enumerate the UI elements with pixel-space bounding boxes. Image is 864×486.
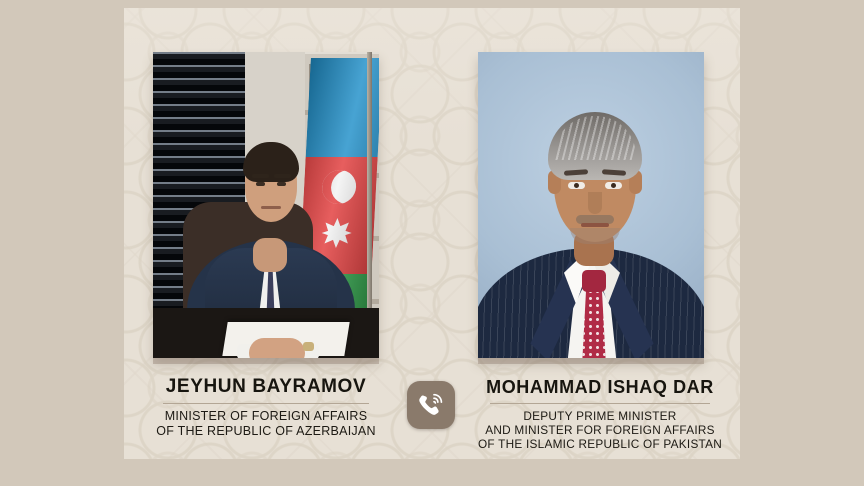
right-person-title-line-3: OF THE ISLAMIC REPUBLIC OF PAKISTAN	[462, 437, 738, 451]
caption-divider-right	[490, 403, 711, 404]
left-eyebrow-2	[274, 174, 291, 178]
right-mouth	[581, 223, 609, 227]
right-person-title-line-2: AND MINISTER FOR FOREIGN AFFAIRS	[462, 423, 738, 437]
right-pupil-2	[611, 183, 616, 188]
right-tie-knot	[582, 270, 606, 292]
caption-divider-left	[163, 403, 370, 404]
left-eye-2	[277, 182, 286, 186]
caption-left: JEYHUN BAYRAMOV MINISTER OF FOREIGN AFFA…	[130, 376, 402, 438]
left-person-title-line-2: OF THE REPUBLIC OF AZERBAIJAN	[130, 424, 402, 439]
left-person-title-line-1: MINISTER OF FOREIGN AFFAIRS	[130, 409, 402, 424]
right-pupil-1	[574, 183, 579, 188]
right-nose	[588, 192, 602, 214]
clasped-hands	[249, 338, 305, 358]
caption-right: MOHAMMAD ISHAQ DAR DEPUTY PRIME MINISTER…	[462, 376, 738, 451]
left-neck	[253, 238, 287, 272]
graphic-canvas: JEYHUN BAYRAMOV MINISTER OF FOREIGN AFFA…	[0, 0, 864, 486]
portrait-photo-right	[478, 52, 704, 358]
left-eyebrow-1	[252, 174, 269, 178]
left-person-name: JEYHUN BAYRAMOV	[130, 376, 402, 398]
wristwatch	[303, 342, 314, 351]
right-person-name: MOHAMMAD ISHAQ DAR	[462, 376, 738, 398]
left-mouth	[261, 206, 281, 209]
right-person-title-line-1: DEPUTY PRIME MINISTER	[462, 409, 738, 423]
left-eye-1	[256, 182, 265, 186]
portrait-photo-left	[153, 52, 379, 358]
phone-call-icon	[407, 381, 455, 429]
